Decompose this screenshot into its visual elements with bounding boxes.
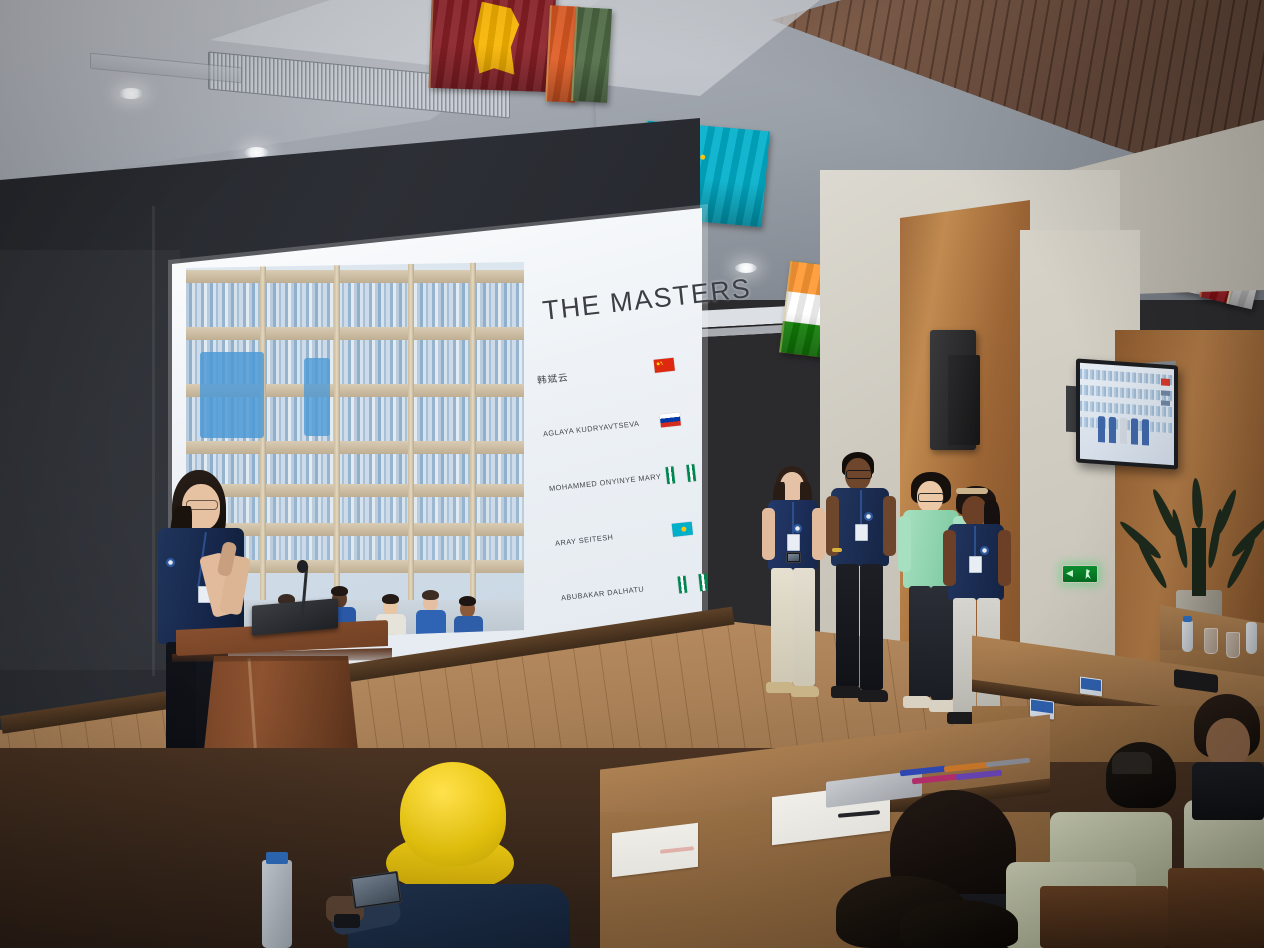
wristband (334, 914, 360, 928)
flag-nigeria-icon (678, 576, 688, 594)
roster-name: ARAY SEITESH (555, 526, 673, 548)
audience-phone (350, 871, 402, 909)
drinking-glass (1204, 628, 1218, 654)
roster-name: ABUBAKAR DALHATU (561, 581, 679, 603)
downlight-icon (118, 88, 144, 99)
student-1 (762, 466, 832, 706)
student-4 (944, 486, 1016, 738)
wall-tv-monitor (1076, 358, 1178, 469)
flag-green-panel (571, 7, 612, 103)
flag-sri-lanka (429, 0, 556, 92)
glasses-icon (918, 493, 944, 502)
drinking-glass (1226, 632, 1240, 658)
flag-nigeria-icon (698, 573, 708, 591)
roster-flags (665, 464, 696, 484)
microphone-icon (297, 560, 308, 573)
roster-flags (654, 358, 675, 373)
exit-sign-icon (1062, 565, 1098, 583)
water-bottle (1182, 620, 1193, 652)
roster-name: 韩斌云 (536, 359, 655, 386)
slide-roster-list: 韩斌云 AGLAYA KUDRYAVTSEVA MOHAMMED ONYINYE… (534, 333, 733, 625)
yellow-bucket-hat (400, 762, 506, 866)
glasses-icon (846, 470, 872, 479)
name-tent-card (1080, 676, 1102, 696)
roster-name: MOHAMMED ONYINYE MARY (549, 471, 667, 493)
potted-palm (1150, 478, 1250, 596)
seat-wood-back (1040, 886, 1168, 948)
audience-member-right-2 (1106, 742, 1180, 852)
roster-flags (660, 412, 681, 427)
flag-nigeria-icon (665, 466, 675, 484)
roster-name: AGLAYA KUDRYAVTSEVA (543, 417, 661, 439)
audience-member-yellow-hat (330, 756, 590, 948)
water-bottle (1246, 622, 1257, 654)
cap-icon (1112, 752, 1152, 774)
flag-kazakhstan-icon (672, 522, 693, 537)
student-2 (828, 452, 900, 714)
foreground-water-bottle (262, 860, 292, 948)
roster-flags (678, 573, 709, 593)
seat-wood-back (1168, 868, 1264, 948)
conference-photo-scene: THE MASTERS 韩斌云 AGLAYA KUDRYAVTSEVA MOHA… (0, 0, 1264, 948)
audience-member-far-left (900, 900, 1020, 948)
wristwatch-icon (832, 548, 842, 552)
flag-china-icon (654, 358, 675, 373)
bottle-cap (266, 852, 288, 864)
roster-flags (672, 522, 693, 537)
tv-screen (1080, 363, 1174, 466)
flag-russia-icon (660, 412, 681, 427)
flag-nigeria-icon (686, 464, 696, 482)
headband-icon (956, 488, 988, 494)
downlight-icon (244, 147, 269, 158)
student-phone (786, 552, 801, 563)
wall-speaker-grille (948, 355, 980, 445)
audience-member-right-1 (1190, 694, 1264, 824)
